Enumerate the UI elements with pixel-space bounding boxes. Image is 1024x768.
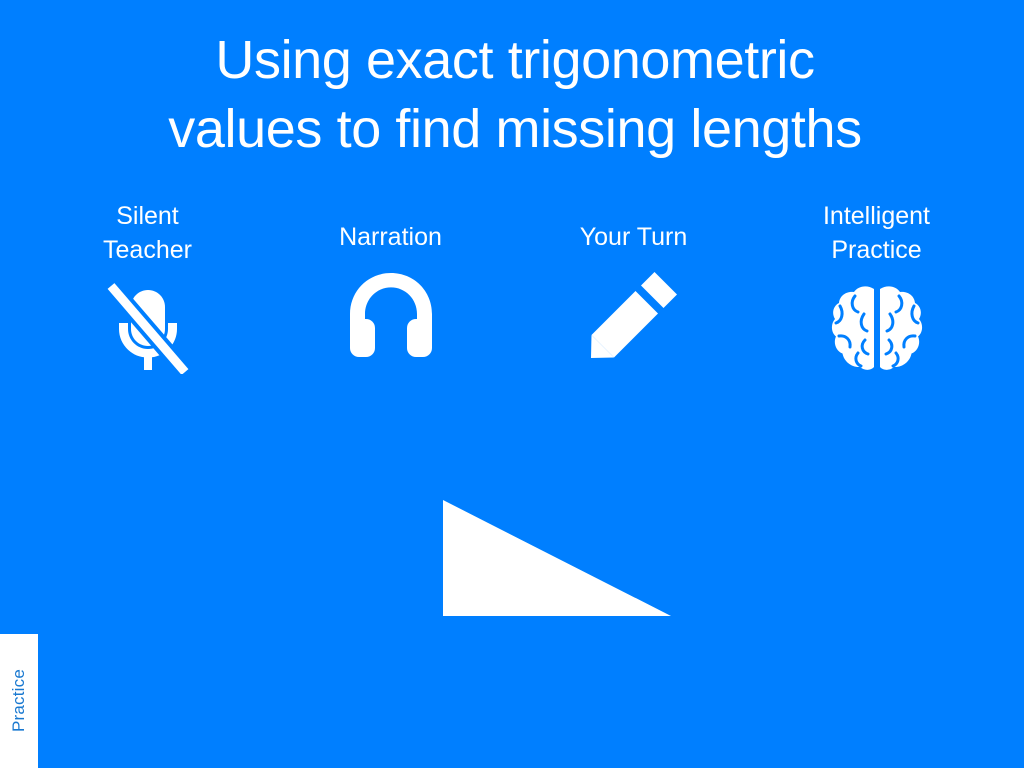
right-triangle [443, 500, 671, 616]
icon-block-intelligent-practice[interactable]: Intelligent Practice [769, 200, 984, 376]
slide-canvas: Using exact trigonometric values to find… [0, 0, 1024, 768]
icon-strip: Silent Teacher Narration [0, 200, 1024, 400]
pencil-icon [588, 267, 680, 363]
right-triangle-shape [443, 500, 671, 616]
icon-block-your-turn[interactable]: Your Turn [526, 200, 741, 363]
icon-label-silent-teacher: Silent Teacher [103, 200, 192, 268]
microphone-muted-icon [105, 280, 191, 376]
headphones-icon [344, 267, 438, 363]
brain-icon [831, 280, 923, 376]
icon-label-intelligent-practice: Intelligent Practice [823, 200, 930, 268]
icon-block-silent-teacher[interactable]: Silent Teacher [40, 200, 255, 376]
icon-label-narration: Narration [339, 200, 442, 255]
practice-tab-label: Practice [9, 669, 29, 732]
slide-title: Using exact trigonometric values to find… [120, 26, 910, 164]
icon-label-your-turn: Your Turn [580, 200, 687, 255]
practice-tab[interactable]: Practice [0, 634, 38, 768]
icon-block-narration[interactable]: Narration [283, 200, 498, 363]
